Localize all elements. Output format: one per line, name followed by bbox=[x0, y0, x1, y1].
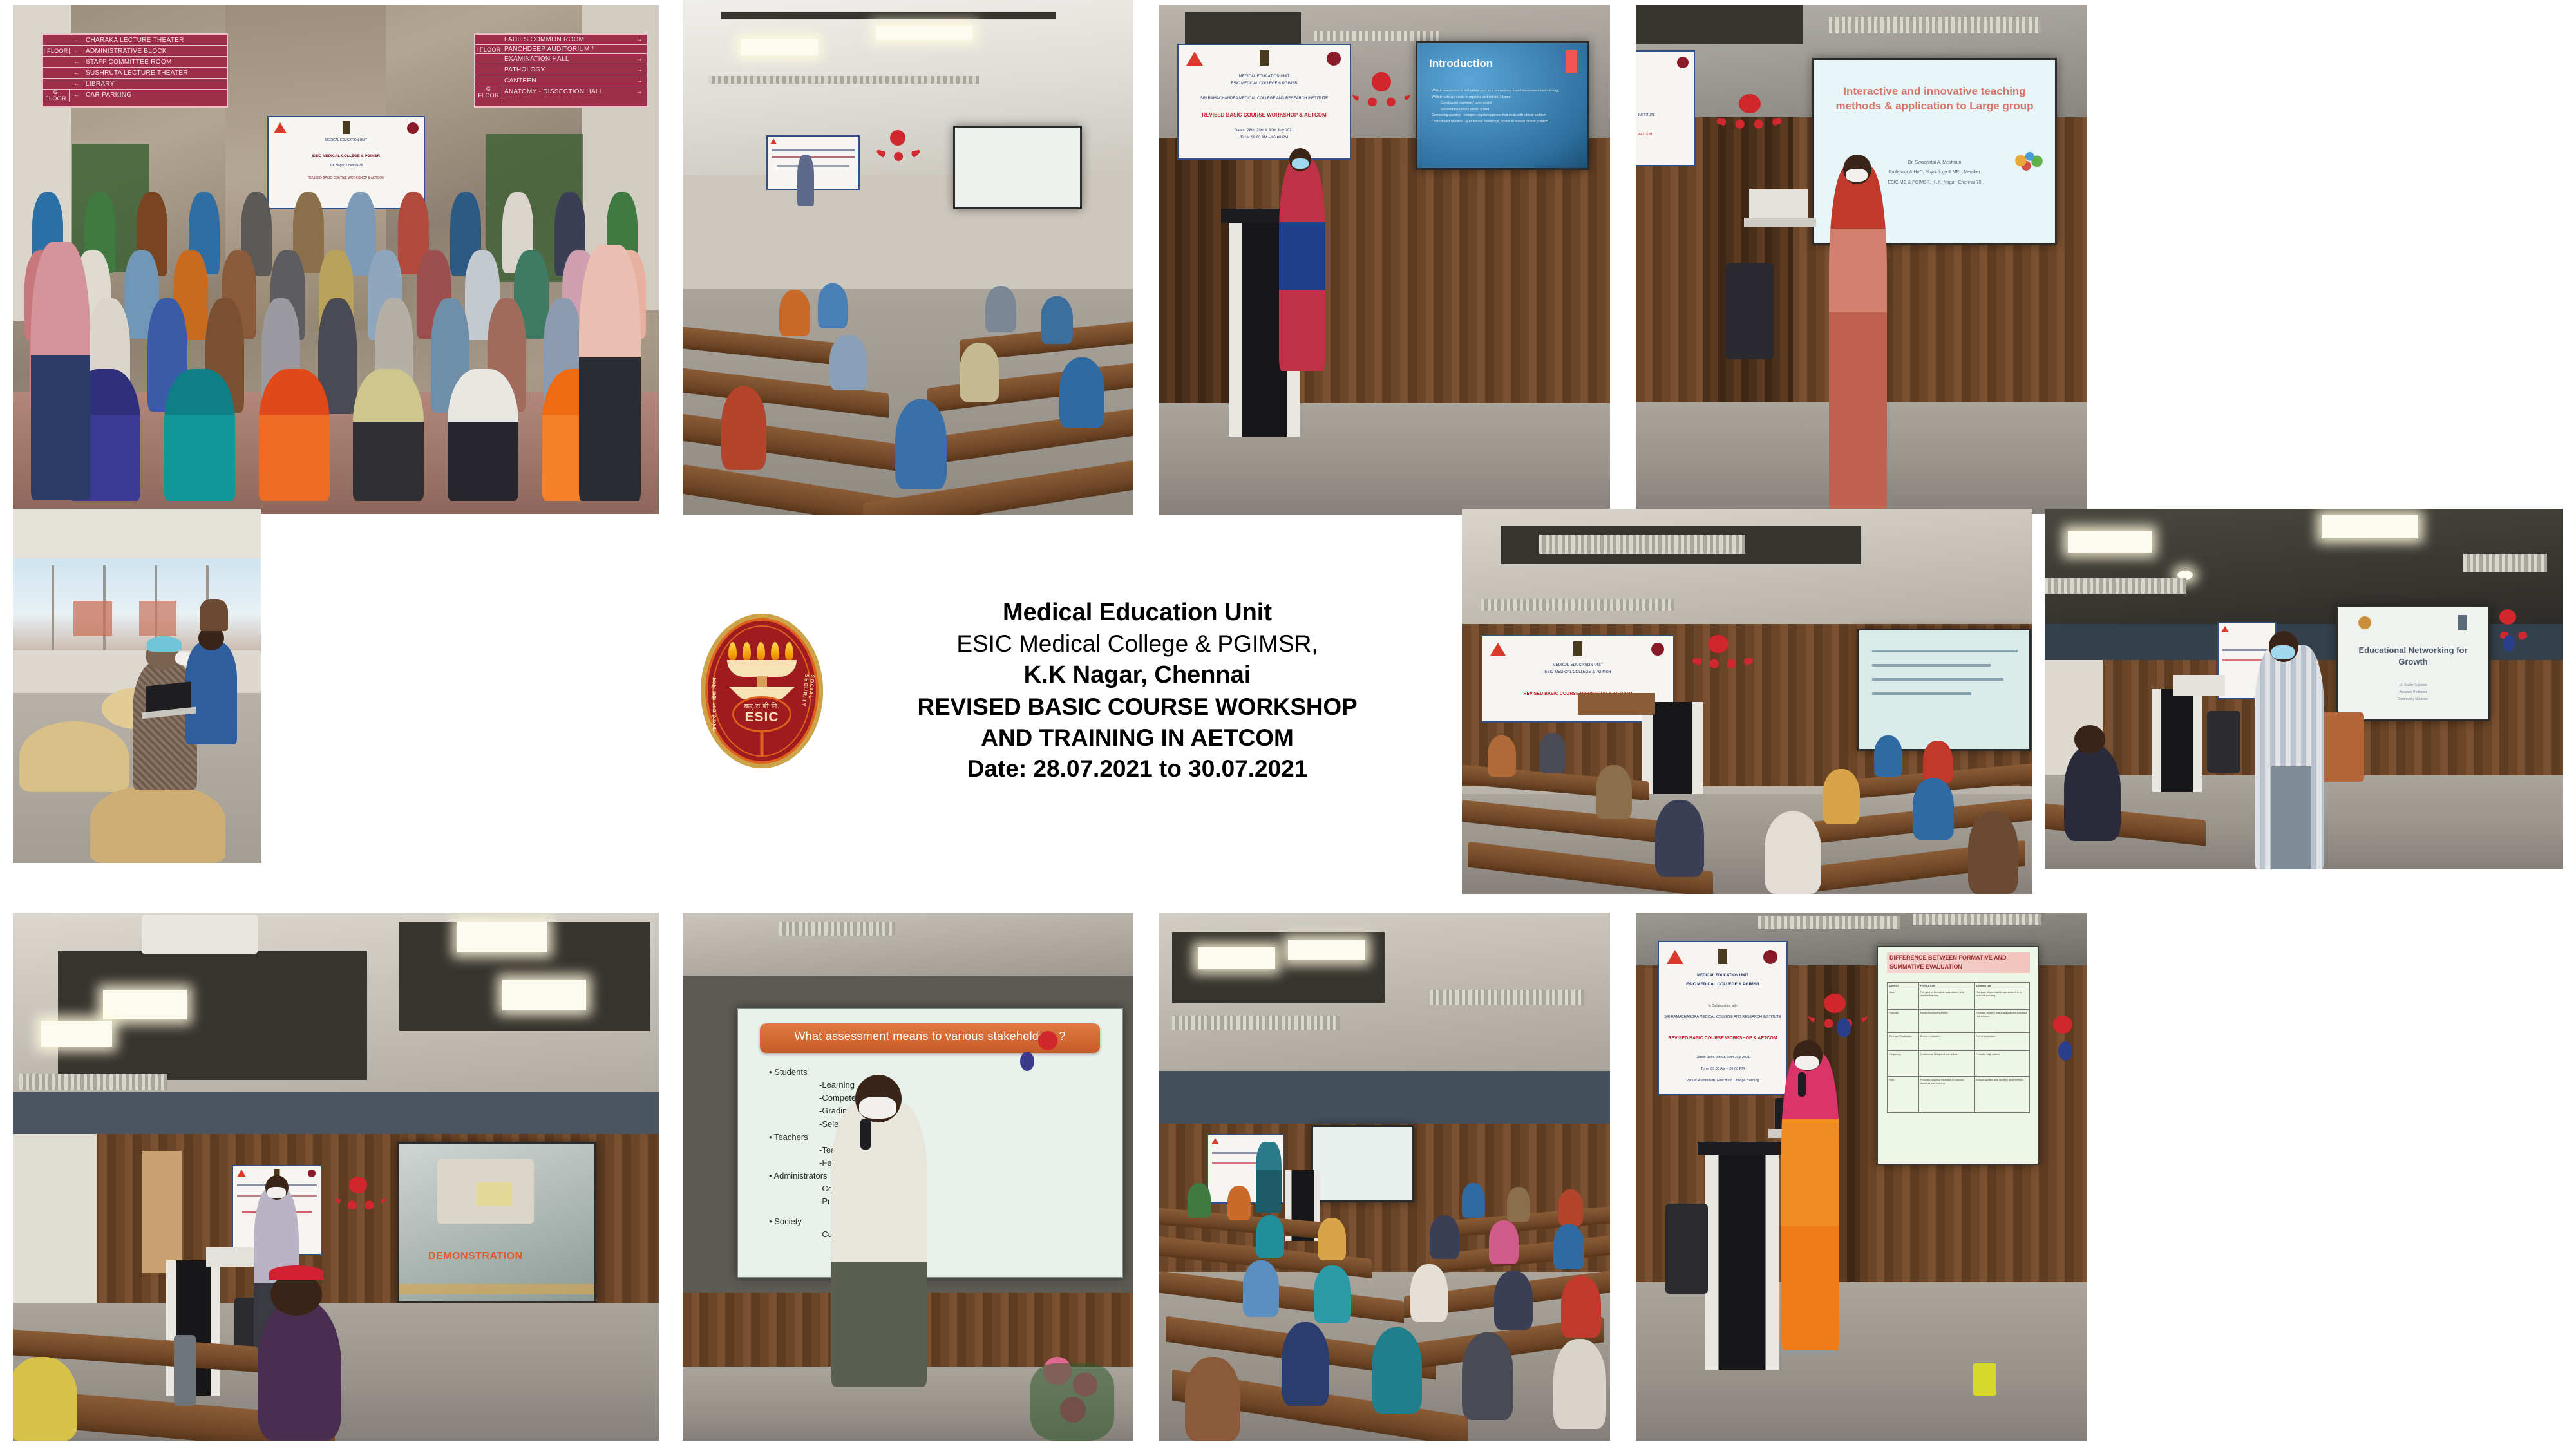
title-line-1: Medical Education Unit bbox=[837, 597, 1437, 629]
slide-bullet: Context poor question - pure factual kno… bbox=[1432, 119, 1578, 126]
table-cell: The goal of summative assessment is to e… bbox=[1974, 989, 2029, 1010]
slide-item: -Teaching bbox=[769, 1144, 1109, 1157]
banner-line-1: MEDICAL EDUCATION UNIT bbox=[272, 138, 420, 143]
slide-title: Interactive and innovative teaching meth… bbox=[1831, 84, 2038, 114]
logo-arc-hindi: कर्मचारी राज्य बीमा निगम bbox=[711, 669, 744, 731]
title-line-2: ESIC Medical College & PGIMSR, bbox=[837, 629, 1437, 659]
slide-bullet: Written examination is still widely used… bbox=[1432, 88, 1578, 95]
title-line-4: REVISED BASIC COURSE WORKSHOP bbox=[837, 692, 1437, 723]
photo-educational-networking-talk: Educational Networking for Growth Dr. Su… bbox=[2045, 509, 2563, 869]
sign-row-label: ADMINISTRATIVE BLOCK bbox=[84, 48, 227, 55]
microphone bbox=[860, 1119, 871, 1150]
projection-screen-formative-summative: DIFFERENCE BETWEEN FORMATIVE AND SUMMATI… bbox=[1877, 946, 2039, 1165]
table-cell: Monitor student learning bbox=[1918, 1010, 1974, 1033]
table-cell: Continuous / frequent low stakes bbox=[1918, 1051, 1974, 1077]
slide-item: -Competency bbox=[769, 1092, 1109, 1104]
directional-sign-left: ← CHARAKA LECTURE THEATER I FLOOR ← ADMI… bbox=[41, 33, 228, 108]
projection-screen-stakeholders: What assessment means to various stakeho… bbox=[737, 1008, 1123, 1278]
banner-line-6: Dates: 28th, 29th & 30th July 2021 bbox=[1664, 1056, 1781, 1059]
stage-banner: INSTITUTE AETCOM bbox=[1636, 50, 1695, 166]
table-row: Goal The goal of formative assessment is… bbox=[1888, 989, 2030, 1010]
banner-line-3: K.K Nagar, Chennai-78 bbox=[272, 164, 420, 167]
esic-wordmark: ESIC bbox=[744, 710, 779, 724]
table-cell: Evaluate student learning against a stan… bbox=[1974, 1010, 2029, 1033]
sign-row-label: SUSHRUTA LECTURE THEATER bbox=[84, 70, 227, 77]
photo-small-group-activity bbox=[13, 509, 261, 863]
banner-line-1: MEDICAL EDUCATION UNIT bbox=[1664, 972, 1781, 980]
sign-row-label: PATHOLOGY bbox=[502, 66, 632, 73]
logo-arc-social-security: SOCIAL SECURITY bbox=[776, 671, 815, 732]
sign-row-label: CHARAKA LECTURE THEATER bbox=[84, 37, 227, 44]
sign-row-label: CAR PARKING bbox=[84, 91, 227, 99]
photo-auditorium-wide-view bbox=[1159, 913, 1610, 1441]
banner-line-7: Time: 09:00 AM – 05:00 PM bbox=[1664, 1067, 1781, 1071]
arrow-right-icon: → bbox=[632, 66, 647, 73]
table-cell: End of instruction bbox=[1974, 1033, 2029, 1051]
slide-title: Educational Networking for Growth bbox=[2349, 645, 2477, 667]
arrow-left-icon: ← bbox=[70, 91, 84, 99]
table-cell: Assigns grades and certifies achievement bbox=[1974, 1077, 2029, 1113]
banner-line-8: Venue: Auditorium, First floor, College … bbox=[1664, 1079, 1781, 1083]
podium bbox=[2152, 689, 2202, 792]
table-cell: Goal bbox=[1888, 989, 1919, 1010]
directional-sign-right: LADIES COMMON ROOM → I FLOOR PANCHDEEP A… bbox=[474, 33, 648, 108]
sign-row-label: LIBRARY bbox=[84, 80, 227, 88]
arrow-left-icon: ← bbox=[70, 37, 84, 44]
sign-row-label: ANATOMY - DISSECTION HALL bbox=[502, 88, 632, 95]
sign-floor-g: G FLOOR bbox=[475, 86, 502, 99]
slide-group-label: • Teachers bbox=[769, 1131, 1109, 1144]
slide-bullet: Constructed response / open ended bbox=[1432, 100, 1578, 107]
arrow-right-icon: → bbox=[632, 88, 647, 95]
banner-line-2: ESIC MEDICAL COLLEGE & PGIMSR bbox=[1664, 982, 1781, 987]
esic-logo: कर्.रा.बी.नि. ESIC SOCIAL SECURITY कर्मच… bbox=[701, 614, 823, 768]
arrow-right-icon: → bbox=[632, 55, 647, 62]
table-header: FORMATIVE bbox=[1918, 983, 1974, 989]
podium bbox=[1705, 1151, 1779, 1370]
arrow-right-icon: → bbox=[632, 77, 647, 84]
table-cell: Provides ongoing feedback to improve tea… bbox=[1918, 1077, 1974, 1113]
sign-row-label: CANTEEN bbox=[502, 77, 632, 84]
slide-group-label: • Society bbox=[769, 1215, 1109, 1228]
photo-assessment-stakeholders-talk: What assessment means to various stakeho… bbox=[683, 913, 1133, 1441]
arrow-left-icon: ← bbox=[70, 59, 84, 66]
table-row: Purpose Monitor student learning Evaluat… bbox=[1888, 1010, 2030, 1033]
waste-bin bbox=[1973, 1363, 1996, 1396]
slide-item: -Learning bbox=[769, 1079, 1109, 1092]
photo-demonstration-session: DEMONSTRATION bbox=[13, 913, 659, 1441]
projection-screen-networking: Educational Networking for Growth Dr. Su… bbox=[2336, 605, 2490, 721]
people-group-clipart bbox=[2010, 144, 2046, 172]
stage-banner: MEDICAL EDUCATION UNIT ESIC MEDICAL COLL… bbox=[1658, 941, 1788, 1095]
photo-collage: ← CHARAKA LECTURE THEATER I FLOOR ← ADMI… bbox=[0, 0, 2576, 1449]
sign-floor-g: G FLOOR bbox=[43, 89, 70, 102]
table-cell: During instruction bbox=[1918, 1033, 1974, 1051]
photo-interactive-teaching-talk: INSTITUTE AETCOM Interactive and innovat… bbox=[1636, 5, 2087, 514]
photo-hall-rear-view: MEDICAL EDUCATION UNITESIC MEDICAL COLLE… bbox=[1462, 509, 2032, 894]
table-cell: Periodic, high stakes bbox=[1974, 1051, 2029, 1077]
slide-item: -Cost-Effectiveness bbox=[769, 1182, 1109, 1195]
slide-bullet: Selected response / closed ended bbox=[1432, 107, 1578, 113]
table-row: Frequency Continuous / frequent low stak… bbox=[1888, 1051, 2030, 1077]
stage-banner: MEDICAL EDUCATION UNITESIC MEDICAL COLLE… bbox=[1177, 44, 1351, 160]
sign-row-label: STAFF COMMITTEE ROOM bbox=[84, 59, 227, 66]
banner-line-4: SRI RAMACHANDRA MEDICAL COLLEGE AND RESE… bbox=[1664, 1014, 1781, 1020]
projection-screen bbox=[953, 126, 1082, 209]
photo-formative-summative-talk: MEDICAL EDUCATION UNIT ESIC MEDICAL COLL… bbox=[1636, 913, 2087, 1441]
photo-lecture-hall-audience bbox=[683, 0, 1133, 515]
sign-floor-i: I FLOOR bbox=[475, 46, 502, 53]
table-header: ASPECT bbox=[1888, 983, 1919, 989]
photo-group-foyer: ← CHARAKA LECTURE THEATER I FLOOR ← ADMI… bbox=[13, 5, 659, 514]
projection-screen bbox=[1311, 1125, 1414, 1202]
table-cell: Frequency bbox=[1888, 1051, 1919, 1077]
banner-line-5: REVISED BASIC COURSE WORKSHOP & AETCOM bbox=[1664, 1036, 1781, 1041]
projection-screen bbox=[1857, 629, 2031, 751]
microphone bbox=[1798, 1072, 1806, 1097]
title-line-3: K.K Nagar, Chennai bbox=[837, 659, 1437, 691]
ceiling-projector bbox=[142, 915, 258, 954]
title-card: कर्.रा.बी.नि. ESIC SOCIAL SECURITY कर्मच… bbox=[683, 515, 1455, 866]
table-header: SUMMATIVE bbox=[1974, 983, 2029, 989]
slide-group-label: • Students bbox=[769, 1066, 1109, 1079]
sign-row-label: PANCHDEEP AUDITORIUM / bbox=[502, 46, 632, 53]
table-cell: Purpose bbox=[1888, 1010, 1919, 1033]
slide-group-label: • Administrators bbox=[769, 1170, 1109, 1182]
banner-line-4: REVISED BASIC COURSE WORKSHOP & AETCOM bbox=[272, 176, 420, 180]
sign-floor-i: I FLOOR bbox=[43, 48, 70, 54]
slide-item: -Competent doctors bbox=[769, 1228, 1109, 1241]
arrow-left-icon: ← bbox=[70, 48, 84, 55]
slide-item: -Selection bbox=[769, 1118, 1109, 1131]
table-cell: Timing of Evaluation bbox=[1888, 1033, 1919, 1051]
arrow-left-icon: ← bbox=[70, 70, 84, 77]
slide-item: -Grading bbox=[769, 1104, 1109, 1117]
water-bottle bbox=[174, 1335, 196, 1406]
title-line-5: AND TRAINING IN AETCOM bbox=[837, 723, 1437, 753]
table-cell: The goal of formative assessment is to m… bbox=[1918, 989, 1974, 1010]
sign-row-label: LADIES COMMON ROOM bbox=[502, 36, 632, 43]
banner-line-2: ESIC MEDICAL COLLEGE & PGIMSR bbox=[272, 155, 420, 158]
arrow-right-icon: → bbox=[632, 36, 647, 43]
slide-title: DEMONSTRATION bbox=[428, 1251, 523, 1262]
photo-podium-introduction: MEDICAL EDUCATION UNITESIC MEDICAL COLLE… bbox=[1159, 5, 1610, 515]
projection-screen-demonstration: DEMONSTRATION bbox=[397, 1142, 596, 1303]
slide-comparison-table: ASPECT FORMATIVE SUMMATIVE Goal The goal… bbox=[1887, 982, 2030, 1113]
title-line-6: Date: 28.07.2021 to 30.07.2021 bbox=[837, 753, 1437, 784]
sign-row-label: EXAMINATION HALL bbox=[502, 55, 632, 62]
table-row: Timing of Evaluation During instruction … bbox=[1888, 1033, 2030, 1051]
slide-item: -Program evaluation bbox=[769, 1195, 1109, 1208]
slide-bullet: Written tests are easier to organise and… bbox=[1432, 95, 1578, 101]
banner-line-3: In Collaboration with bbox=[1664, 1004, 1781, 1008]
table-row: Role Provides ongoing feedback to improv… bbox=[1888, 1077, 2030, 1113]
slide-bullet: Connecting question - complex cognitive … bbox=[1432, 113, 1578, 119]
slide-title: DIFFERENCE BETWEEN FORMATIVE AND SUMMATI… bbox=[1889, 954, 2029, 972]
projection-screen-introduction: Introduction Written examination is stil… bbox=[1416, 41, 1589, 170]
slide-item: -Feedback bbox=[769, 1157, 1109, 1170]
table-cell: Role bbox=[1888, 1077, 1919, 1113]
arrow-left-icon: ← bbox=[70, 80, 84, 88]
slide-title: Introduction bbox=[1429, 57, 1493, 70]
